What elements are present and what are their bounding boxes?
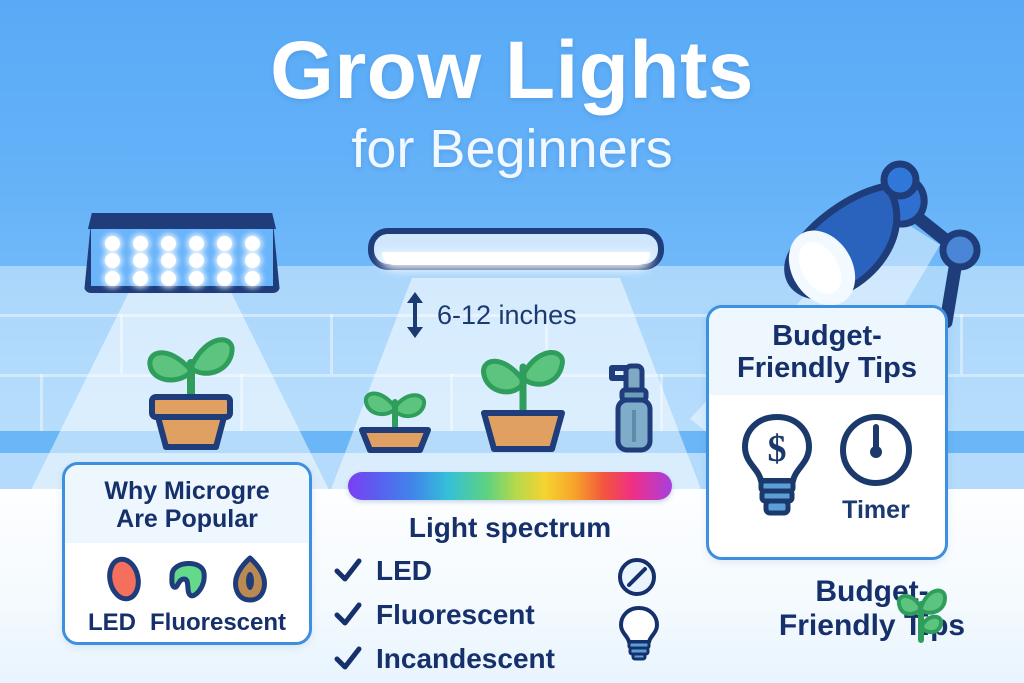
led-dot [133, 236, 148, 251]
list-item[interactable]: Incandescent [334, 643, 634, 675]
led-dot [245, 253, 260, 268]
list-item[interactable]: Fluorescent [334, 599, 634, 631]
led-dot [161, 271, 176, 286]
led-dot [245, 271, 260, 286]
list-item[interactable]: LED [334, 555, 634, 587]
led-dot [161, 236, 176, 251]
led-dot [245, 236, 260, 251]
page-title: Grow Lights [0, 30, 1024, 112]
card-header: Budget- Friendly Tips [709, 308, 945, 395]
dollar-bulb-icon: $ [739, 411, 815, 519]
card-title-line-1: Why Microgre [75, 477, 299, 505]
led-dot [189, 236, 204, 251]
card-title-line-1: Budget- [719, 320, 935, 352]
svg-text:$: $ [768, 428, 787, 470]
fluorescent-tube-glow [382, 252, 650, 265]
leaf-icon [164, 555, 210, 603]
potted-plant-large-icon [132, 325, 250, 458]
seed-label-row: LED Fluorescent [65, 609, 309, 637]
led-dot [217, 253, 232, 268]
led-dot-grid [98, 235, 266, 287]
led-panel-housing [84, 213, 280, 229]
led-dot [217, 271, 232, 286]
footer-tips-line-2: Friendly Tips [742, 609, 1002, 643]
timer-block: Timer [837, 411, 915, 525]
seed-label: LED [88, 609, 136, 637]
seedling-tray-icon [352, 372, 438, 461]
spectrum-caption: Light spectrum [348, 512, 672, 544]
led-dot [133, 253, 148, 268]
led-dot [105, 236, 120, 251]
card-title-line-2: Are Popular [75, 505, 299, 533]
led-dot [189, 253, 204, 268]
check-mark-icon [334, 646, 362, 672]
budget-icon-row: $ Timer [709, 411, 945, 525]
check-mark-icon [334, 602, 362, 628]
seed-icon-row [65, 555, 309, 603]
why-microgreens-card[interactable]: Why Microgre Are Popular LED Fluorescent [62, 462, 312, 645]
led-dot [133, 271, 148, 286]
sprout-icon [893, 582, 949, 649]
spray-bottle-icon [600, 362, 658, 459]
distance-marker: 6-12 inches [405, 292, 577, 338]
timer-label: Timer [837, 496, 915, 525]
gauge-icon [616, 556, 658, 603]
distance-label: 6-12 inches [437, 300, 577, 331]
check-mark-icon [334, 558, 362, 584]
led-dot [217, 236, 232, 251]
led-dot [161, 253, 176, 268]
light-spectrum-bar [348, 472, 672, 500]
led-dot [105, 271, 120, 286]
brick-line [330, 314, 333, 374]
led-dot [105, 253, 120, 268]
potted-seedling-icon [468, 345, 578, 462]
timer-clock-icon [837, 411, 915, 489]
seed-label: Fluorescent [150, 609, 286, 637]
list-item-label: Fluorescent [376, 599, 535, 631]
led-panel-icon [84, 213, 280, 293]
card-header: Why Microgre Are Popular [65, 465, 309, 543]
list-item-label: Incandescent [376, 643, 555, 675]
vertical-double-arrow-icon [405, 292, 425, 338]
light-type-checklist: LED Fluorescent Incandescent [334, 555, 634, 683]
seed-oval-icon [104, 555, 144, 603]
card-title-line-2: Friendly Tips [719, 352, 935, 384]
brick-line [40, 374, 43, 431]
footer-tips-block: Budget- Friendly Tips [742, 575, 1002, 642]
seed-kernel-icon [230, 555, 270, 603]
list-item-label: LED [376, 555, 432, 587]
light-bulb-icon [618, 604, 660, 667]
infographic-canvas: Grow Lights for Beginners [0, 0, 1024, 683]
budget-tips-card[interactable]: Budget- Friendly Tips $ Timer [706, 305, 948, 560]
footer-tips-line-1: Budget- [742, 575, 1002, 609]
led-dot [189, 271, 204, 286]
